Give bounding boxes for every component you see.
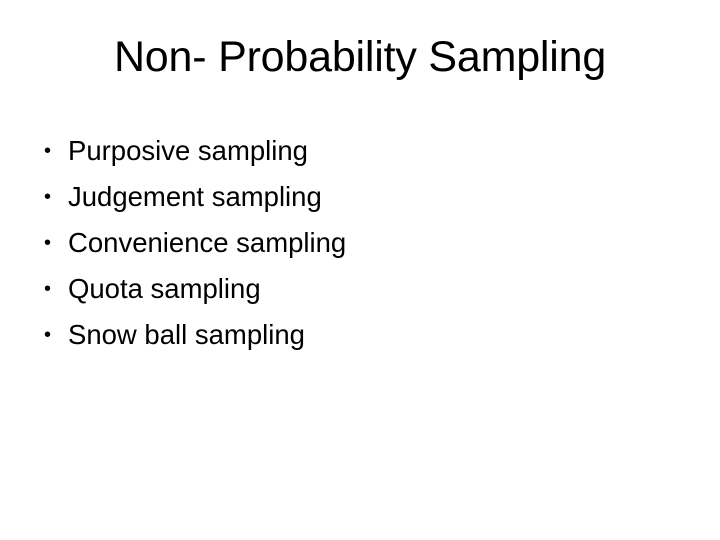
bullet-point-icon: • xyxy=(44,220,58,266)
list-item: • Convenience sampling xyxy=(40,220,680,266)
list-item-label: Quota sampling xyxy=(68,273,261,304)
bullet-point-icon: • xyxy=(44,266,58,312)
list-item: • Snow ball sampling xyxy=(40,312,680,358)
bullet-point-icon: • xyxy=(44,312,58,358)
slide-canvas: Non- Probability Sampling • Purposive sa… xyxy=(0,0,720,540)
bullet-point-icon: • xyxy=(44,128,58,174)
list-item-label: Snow ball sampling xyxy=(68,319,305,350)
bullet-point-icon: • xyxy=(44,174,58,220)
list-item-label: Convenience sampling xyxy=(68,227,346,258)
list-item: • Judgement sampling xyxy=(40,174,680,220)
list-item-label: Judgement sampling xyxy=(68,181,322,212)
list-item: • Purposive sampling xyxy=(40,128,680,174)
list-item: • Quota sampling xyxy=(40,266,680,312)
list-item-label: Purposive sampling xyxy=(68,135,308,166)
bullet-list: • Purposive sampling • Judgement samplin… xyxy=(40,128,680,358)
page-title: Non- Probability Sampling xyxy=(40,30,680,84)
